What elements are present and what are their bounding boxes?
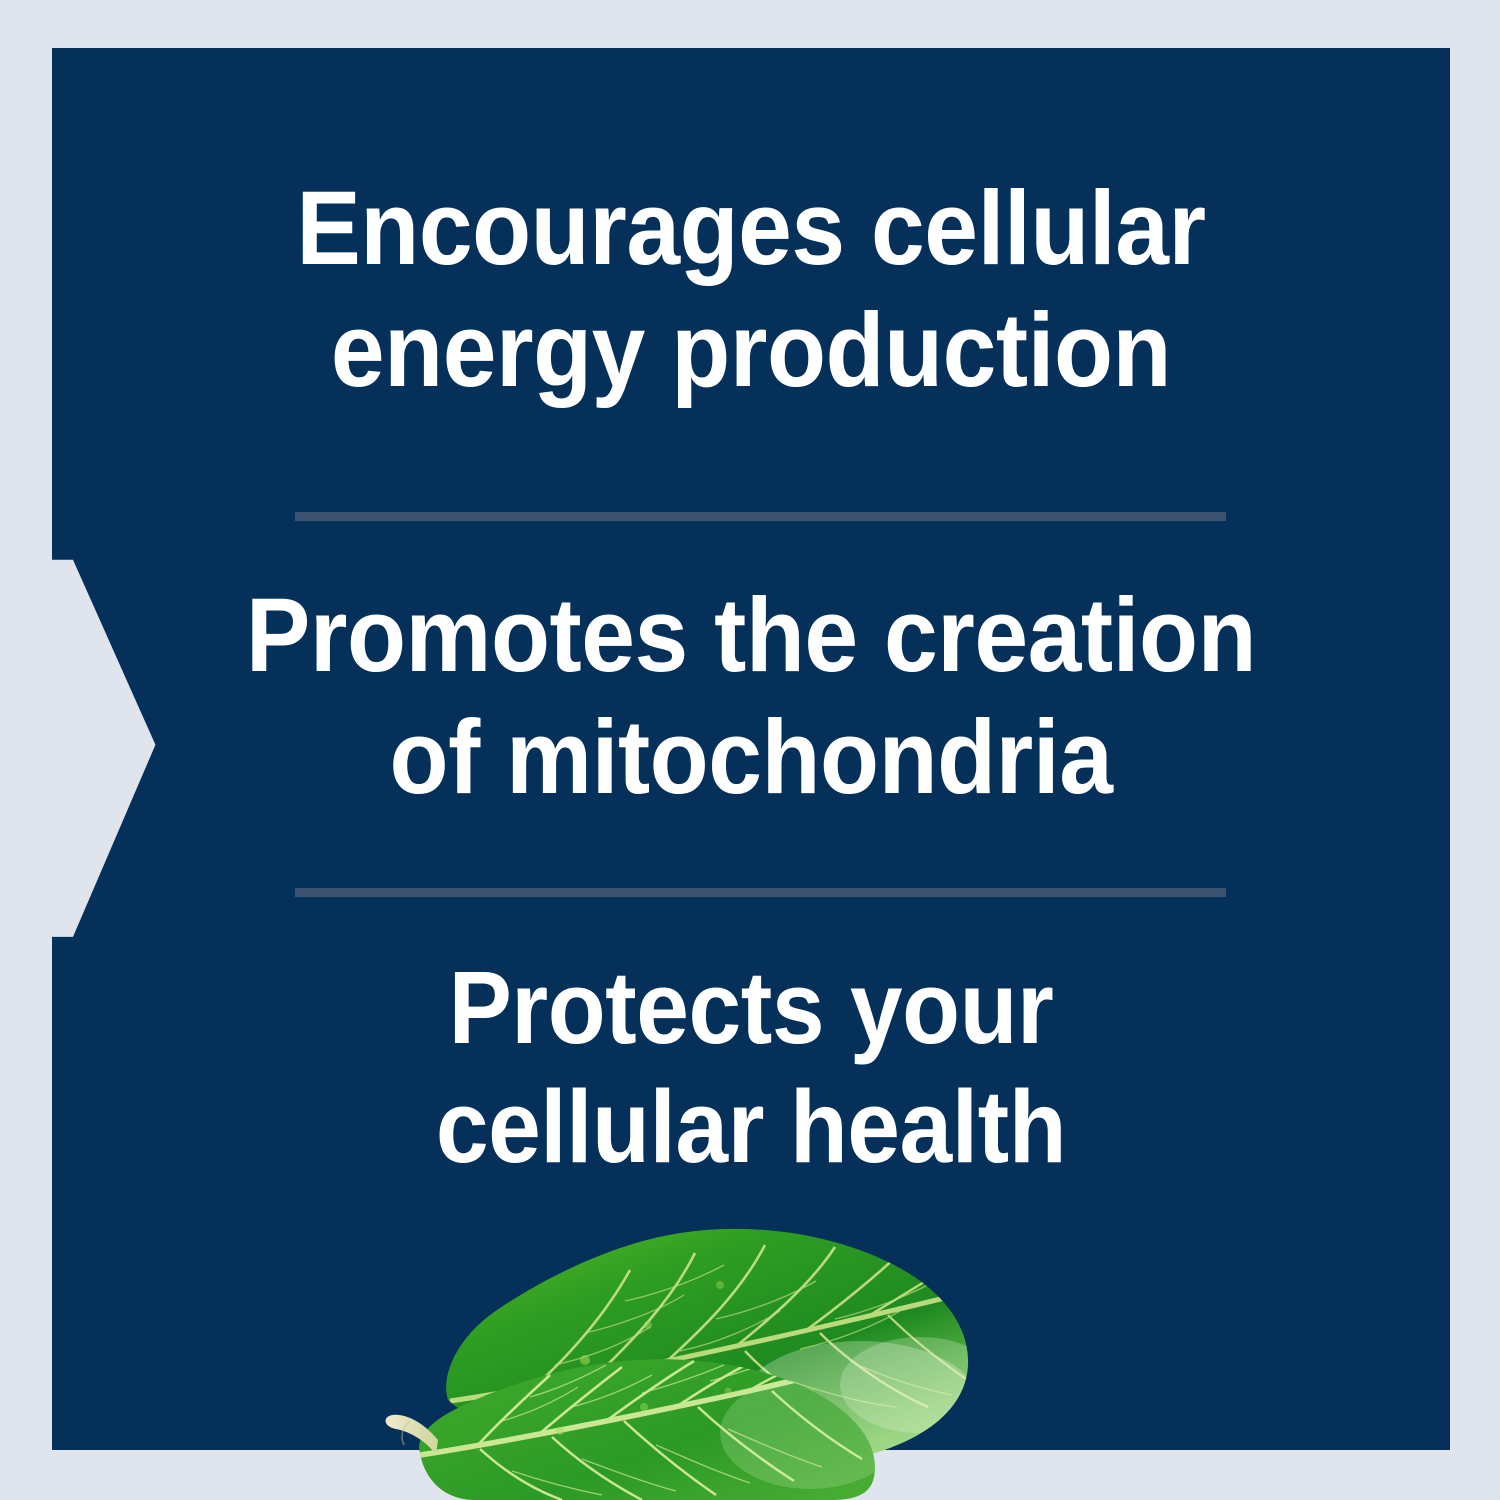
section-divider-1	[295, 512, 1226, 521]
benefit-cellular-health-line-1: Protects your	[108, 948, 1394, 1067]
benefits-content: Encourages cellular energy production Pr…	[52, 48, 1450, 1450]
benefit-cellular-health: Protects your cellular health	[108, 948, 1394, 1187]
benefit-mitochondria-line-1: Promotes the creation	[108, 575, 1394, 697]
benefit-energy-line-2: energy production	[108, 290, 1394, 412]
benefit-mitochondria-line-2: of mitochondria	[108, 697, 1394, 819]
infographic-canvas: Encourages cellular energy production Pr…	[0, 0, 1500, 1500]
benefit-mitochondria: Promotes the creation of mitochondria	[108, 575, 1394, 819]
benefit-cellular-health-line-2: cellular health	[108, 1067, 1394, 1186]
benefit-energy-line-1: Encourages cellular	[108, 168, 1394, 290]
section-divider-2	[295, 888, 1226, 897]
benefit-energy: Encourages cellular energy production	[108, 168, 1394, 412]
